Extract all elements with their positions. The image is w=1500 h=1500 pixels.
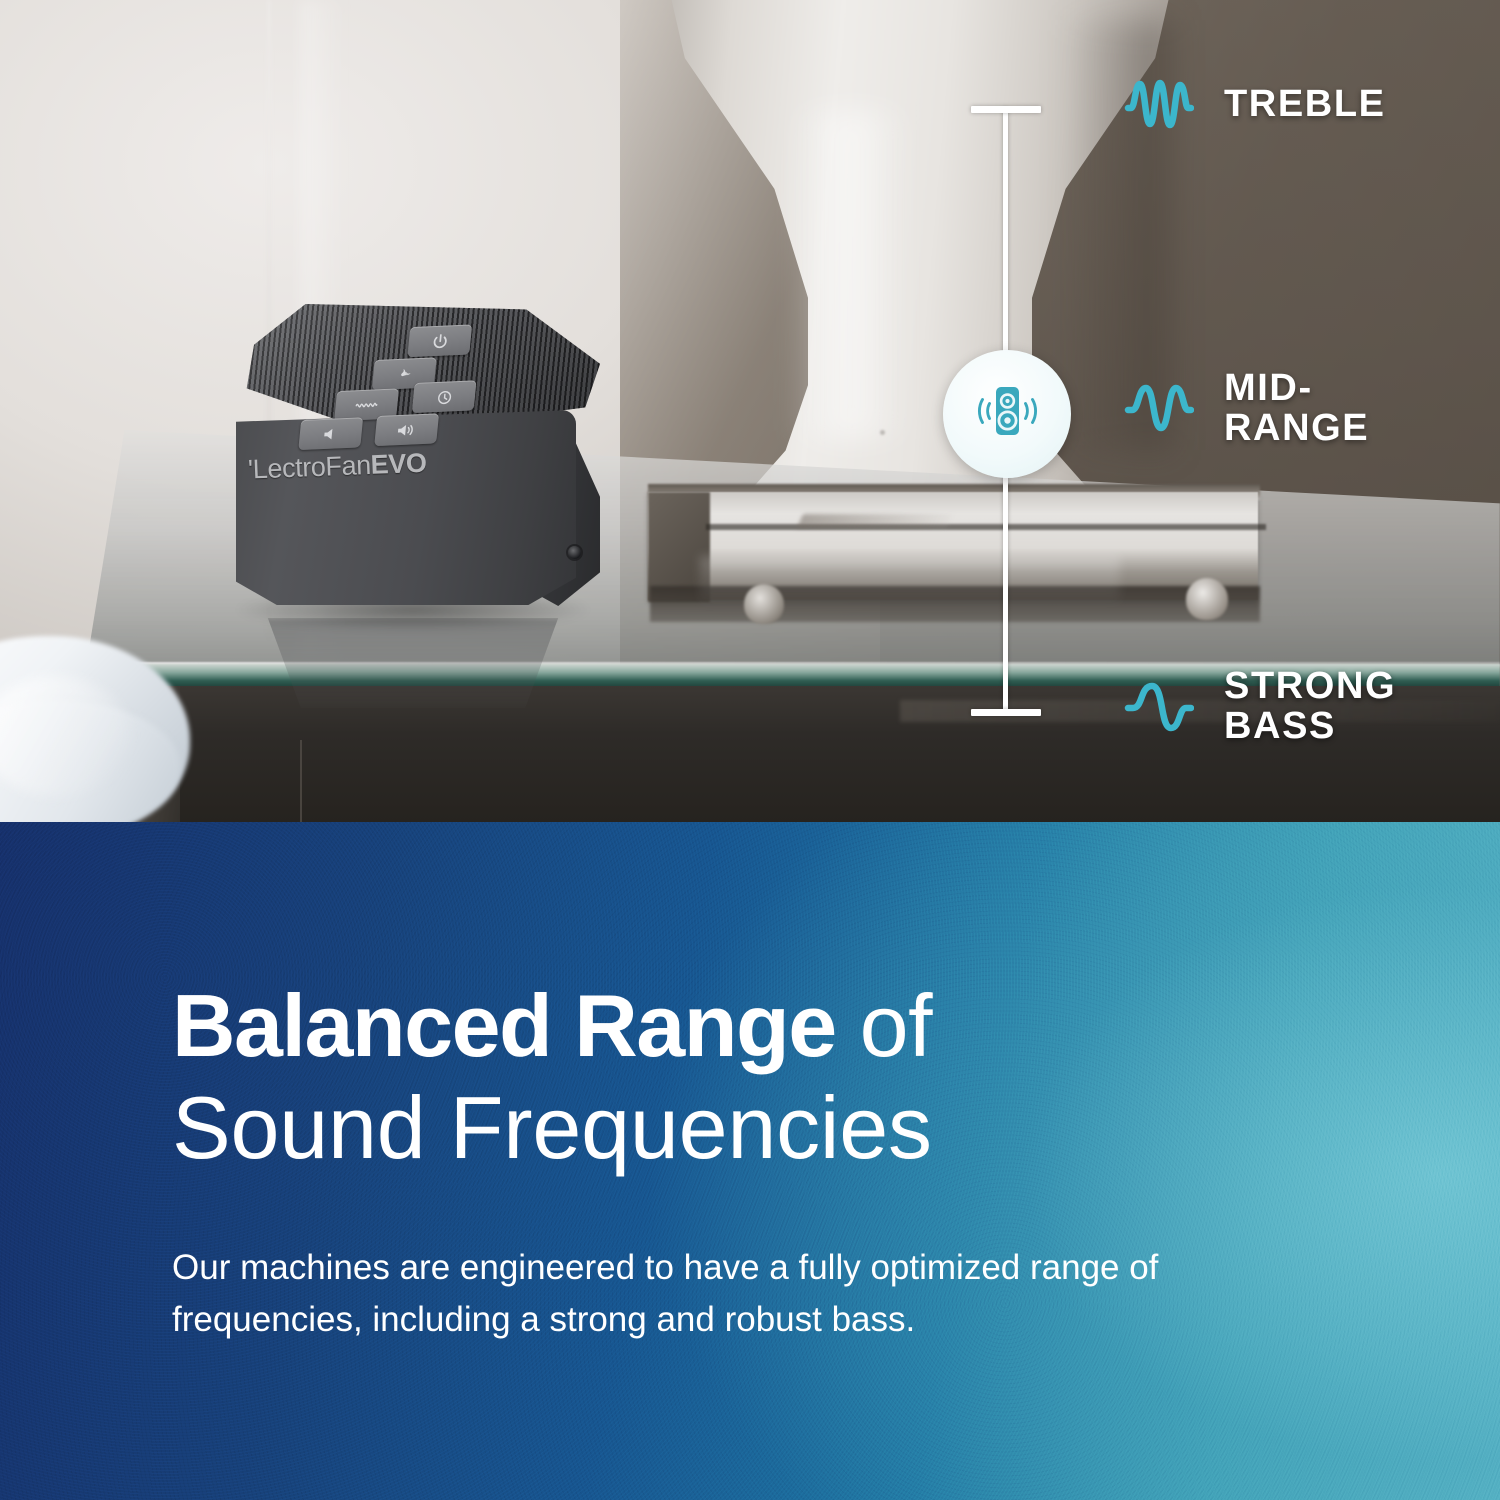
frequency-label-treble: TREBLE (1224, 84, 1386, 124)
mid-frequency-wave-icon (1124, 380, 1194, 436)
acrylic-block-dark-strip (706, 524, 1266, 530)
frequency-label-strong-bass: STRONG BASS (1224, 666, 1396, 747)
headline-light-tail: of (836, 976, 932, 1075)
speaker-sound-icon (968, 381, 1046, 448)
frequency-label-mid-range: MID- RANGE (1224, 368, 1369, 449)
brand-prefix: 'LectroFan (247, 450, 371, 485)
brand-suffix: EVO (370, 448, 427, 480)
acrylic-block-foot-right (1186, 578, 1228, 620)
acrylic-block-foot-left (744, 584, 784, 624)
lamp-highlight (790, 110, 910, 440)
low-frequency-wave-icon (1124, 678, 1194, 734)
speaker-badge (943, 350, 1071, 478)
device-button-cluster (311, 328, 518, 437)
frequency-row-mid-range: MID- RANGE (1124, 368, 1369, 449)
product-lifestyle-photo: 'LectroFanEVO (0, 0, 1500, 822)
headline-line-1: Balanced Range of (172, 982, 1500, 1070)
volume-down-button[interactable] (298, 417, 363, 450)
headphone-jack-icon (568, 546, 581, 559)
acrylic-block-streak (797, 514, 953, 528)
nightstand-drawer-seam (300, 740, 302, 822)
power-button[interactable] (407, 324, 472, 357)
table-lamp (640, 0, 1200, 520)
headline-panel: Balanced Range of Sound Frequencies Our … (0, 822, 1500, 1500)
frequency-scale-bottom-cap (971, 709, 1041, 716)
volume-up-button[interactable] (374, 413, 439, 446)
panel-subcopy: Our machines are engineered to have a fu… (172, 1242, 1292, 1346)
device-reflection (248, 618, 578, 708)
frequency-row-treble: TREBLE (1124, 76, 1386, 132)
high-frequency-wave-icon (1124, 76, 1194, 132)
frequency-row-strong-bass: STRONG BASS (1124, 666, 1396, 747)
lectrofan-evo-device: 'LectroFanEVO (228, 300, 608, 635)
frequency-scale-top-cap (971, 106, 1041, 113)
headline-line-2: Sound Frequencies (172, 1076, 1500, 1180)
timer-button[interactable] (412, 380, 477, 413)
headline-bold: Balanced Range (172, 976, 836, 1075)
lamp-surface-speck (880, 430, 885, 435)
product-feature-graphic: 'LectroFanEVO (0, 0, 1500, 1500)
